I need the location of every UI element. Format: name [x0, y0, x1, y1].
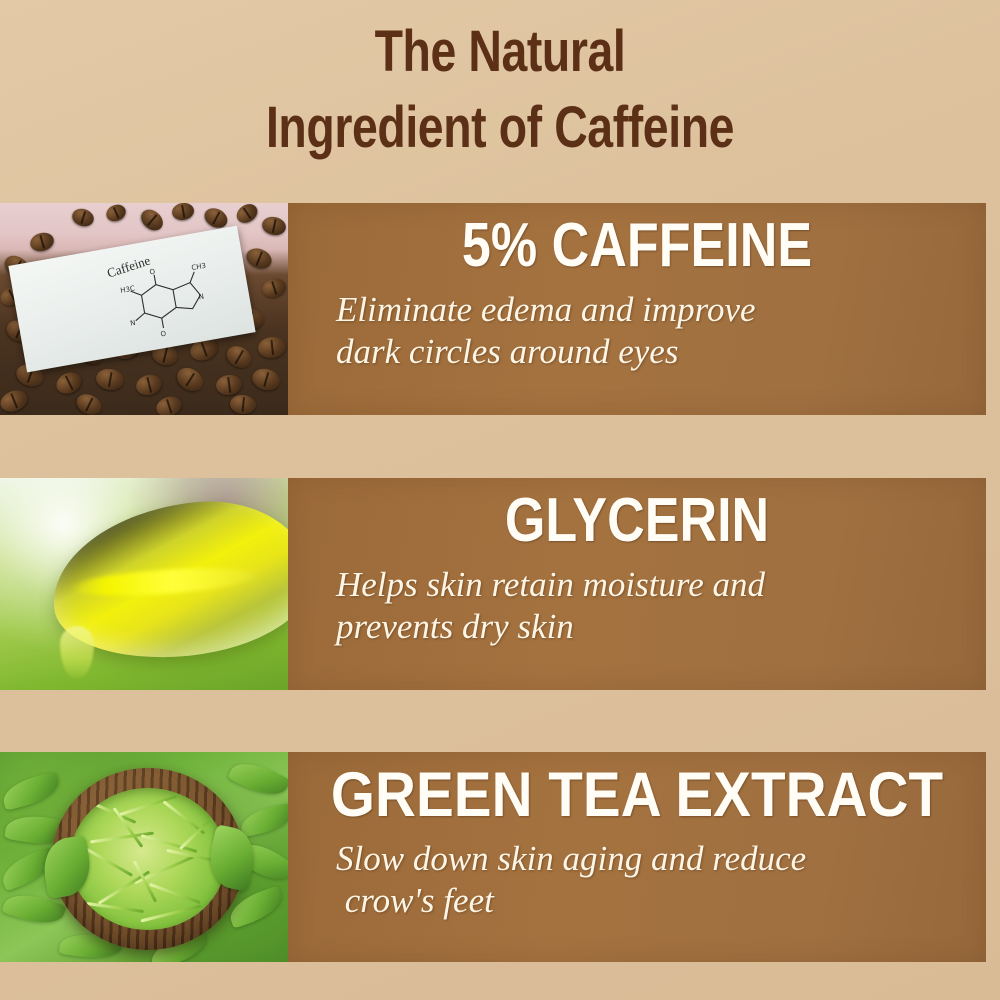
page-title: The Natural Ingredient of Caffeine	[0, 14, 1000, 166]
ingredient-description-glycerin: Helps skin retain moisture and prevents …	[288, 558, 986, 648]
ingredient-description-caffeine: Eliminate edema and improve dark circles…	[288, 283, 986, 373]
ingredient-row-green-tea: GREEN TEA EXTRACT Slow down skin aging a…	[0, 752, 1000, 962]
ingredient-row-caffeine: Caffeine H3C O O CH	[0, 203, 1000, 415]
tea-needle-icon	[83, 846, 133, 877]
wicker-basket	[52, 768, 244, 950]
svg-text:H3C: H3C	[120, 284, 136, 294]
description-line-1: Slow down skin aging and reduce	[336, 838, 966, 880]
tea-needle-icon	[179, 817, 213, 850]
svg-text:N: N	[198, 293, 205, 302]
description-line-2: prevents dry skin	[336, 606, 966, 648]
green-tea-leaves-basket-photo	[0, 752, 288, 962]
description-line-2: dark circles around eyes	[336, 331, 966, 373]
title-line-2: Ingredient of Caffeine	[100, 90, 900, 166]
title-line-1: The Natural	[100, 14, 900, 90]
coffee-beans-caffeine-molecule-photo: Caffeine H3C O O CH	[0, 203, 288, 415]
tea-leaves-pile	[70, 788, 226, 930]
description-line-1: Helps skin retain moisture and	[336, 564, 966, 606]
svg-text:N: N	[130, 319, 137, 328]
svg-text:CH3: CH3	[191, 262, 207, 272]
description-line-1: Eliminate edema and improve	[336, 289, 966, 331]
ingredient-panel-green-tea: GREEN TEA EXTRACT Slow down skin aging a…	[288, 752, 986, 962]
svg-text:O: O	[149, 268, 156, 277]
ingredient-panel-caffeine: 5% CAFFEINE Eliminate edema and improve …	[288, 203, 986, 415]
svg-text:O: O	[160, 330, 167, 339]
ingredient-panel-glycerin: GLYCERIN Helps skin retain moisture and …	[288, 478, 986, 690]
tea-needle-icon	[86, 902, 144, 913]
ingredient-description-green-tea: Slow down skin aging and reduce crow's f…	[288, 832, 986, 922]
ingredient-heading-caffeine: 5% CAFFEINE	[344, 209, 930, 283]
tea-needle-icon	[149, 883, 201, 904]
description-line-2: crow's feet	[336, 880, 966, 922]
ingredient-infographic-poster: The Natural Ingredient of Caffeine	[0, 0, 1000, 1000]
ingredient-row-glycerin: GLYCERIN Helps skin retain moisture and …	[0, 478, 1000, 690]
ingredient-heading-green-tea: GREEN TEA EXTRACT	[323, 758, 951, 832]
ingredient-heading-glycerin: GLYCERIN	[344, 484, 930, 558]
glycerin-oil-droplet-photo	[0, 478, 288, 690]
